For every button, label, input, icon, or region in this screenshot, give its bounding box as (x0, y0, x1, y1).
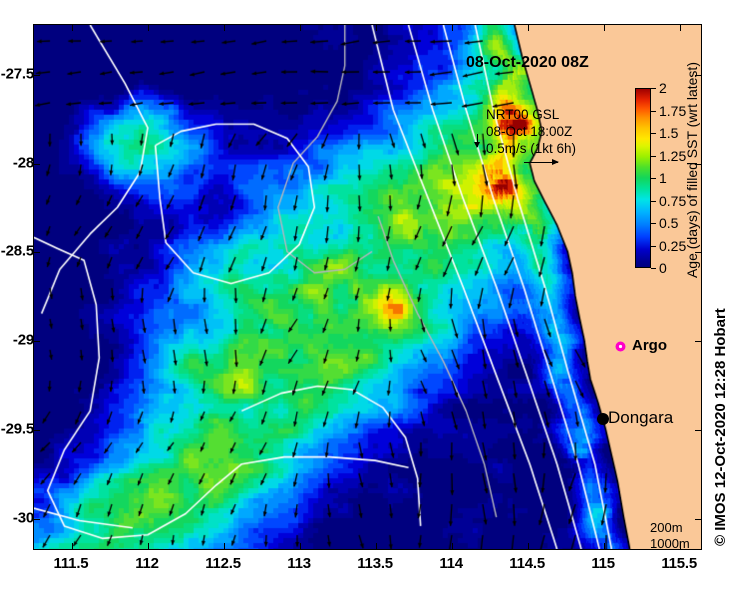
colorbar-tick-label: 1.75 (659, 103, 686, 119)
colorbar-tick (651, 268, 656, 269)
colorbar-tick (651, 133, 656, 134)
vector-key-annotation: NRT00 GSL 08-Oct 18:00Z 0.5m/s (1kt 6h) (486, 106, 576, 173)
x-axis-tick (528, 24, 529, 31)
colorbar-tick-label: 0.75 (659, 193, 686, 209)
vector-scale-arrow-icon (477, 134, 478, 147)
x-axis-tick (376, 24, 377, 31)
x-axis-tick (300, 543, 301, 550)
x-axis-tick-label: 112 (135, 555, 159, 572)
y-axis-tick (33, 164, 40, 165)
y-axis-tick-label: -29 (13, 332, 34, 349)
x-axis-tick (604, 543, 605, 550)
x-axis-tick (528, 543, 529, 550)
vector-key-arrow-icon (524, 162, 558, 163)
x-axis-tick (148, 24, 149, 31)
colorbar-tick (651, 88, 656, 89)
colorbar-gradient (635, 88, 651, 268)
y-axis-tick (695, 341, 702, 342)
figure-root: 08-Oct-2020 08Z NRT00 GSL 08-Oct 18:00Z … (0, 0, 739, 592)
x-axis-tick (224, 543, 225, 550)
vector-key-line1: NRT00 GSL (486, 106, 576, 123)
scale-label-200m: 200m (650, 520, 702, 536)
copyright-label: © IMOS 12-Oct-2020 12:28 Hobart (712, 308, 729, 546)
colorbar-tick (651, 156, 656, 157)
x-axis-tick (72, 543, 73, 550)
x-axis-tick (452, 543, 453, 550)
colorbar-tick (651, 111, 656, 112)
colorbar-title: Age (days) of filled SST (wrt latest) (684, 62, 700, 278)
argo-marker-icon (615, 341, 626, 352)
vector-key-line2: 08-Oct 18:00Z (486, 123, 576, 140)
dongara-label: Dongara (608, 408, 673, 428)
colorbar-tick (651, 178, 656, 179)
y-axis-tick (33, 430, 40, 431)
argo-label: Argo (632, 337, 667, 354)
y-axis-tick-label: -28.5 (1, 243, 34, 260)
x-axis-tick-label: 111.5 (54, 555, 89, 572)
x-axis-tick (72, 24, 73, 31)
colorbar[interactable]: 00.250.50.7511.251.51.752 (635, 88, 651, 268)
x-axis-tick (452, 24, 453, 31)
colorbar-tick (651, 246, 656, 247)
date-stamp-label: 08-Oct-2020 08Z (466, 54, 589, 72)
colorbar-tick (651, 201, 656, 202)
bathymetry-scale-legend: 200m 1000m (650, 520, 702, 550)
y-axis-tick (695, 430, 702, 431)
x-axis-tick-label: 112.5 (205, 555, 241, 572)
y-axis-tick-label: -29.5 (1, 421, 34, 438)
x-axis-tick (376, 543, 377, 550)
colorbar-tick-label: 1 (659, 170, 667, 186)
y-axis-tick (33, 519, 40, 520)
colorbar-tick-label: 1.5 (659, 125, 678, 141)
scale-label-1000m: 1000m (650, 536, 702, 550)
x-axis-tick (680, 24, 681, 31)
y-axis-tick-label: -28 (13, 154, 34, 171)
y-axis-tick (33, 341, 40, 342)
y-axis-tick (33, 252, 40, 253)
y-axis-tick-label: -27.5 (1, 65, 34, 82)
x-axis-tick-label: 115 (591, 555, 615, 572)
colorbar-tick-label: 0.5 (659, 215, 678, 231)
colorbar-tick-label: 1.25 (659, 148, 686, 164)
y-axis-tick (695, 519, 702, 520)
colorbar-tick-label: 0.25 (659, 238, 686, 254)
colorbar-tick-label: 0 (659, 260, 667, 276)
x-axis-tick (224, 24, 225, 31)
y-axis-tick-label: -30 (13, 510, 34, 527)
x-axis-tick (604, 24, 605, 31)
x-axis-tick-label: 113 (287, 555, 311, 572)
y-axis-tick (33, 75, 40, 76)
vector-key-arrow-row (486, 157, 576, 173)
map-plot-area[interactable]: 08-Oct-2020 08Z NRT00 GSL 08-Oct 18:00Z … (33, 24, 702, 550)
vector-key-line3: 0.5m/s (1kt 6h) (486, 140, 576, 157)
x-axis-tick-label: 114.5 (509, 555, 545, 572)
x-axis-tick (680, 543, 681, 550)
colorbar-tick-label: 2 (659, 80, 667, 96)
current-vector-overlay (34, 25, 701, 549)
x-axis-tick-label: 115.5 (661, 555, 697, 572)
x-axis-tick (148, 543, 149, 550)
x-axis-tick (300, 24, 301, 31)
x-axis-tick-label: 114 (439, 555, 463, 572)
colorbar-tick (651, 223, 656, 224)
x-axis-tick-label: 113.5 (357, 555, 393, 572)
